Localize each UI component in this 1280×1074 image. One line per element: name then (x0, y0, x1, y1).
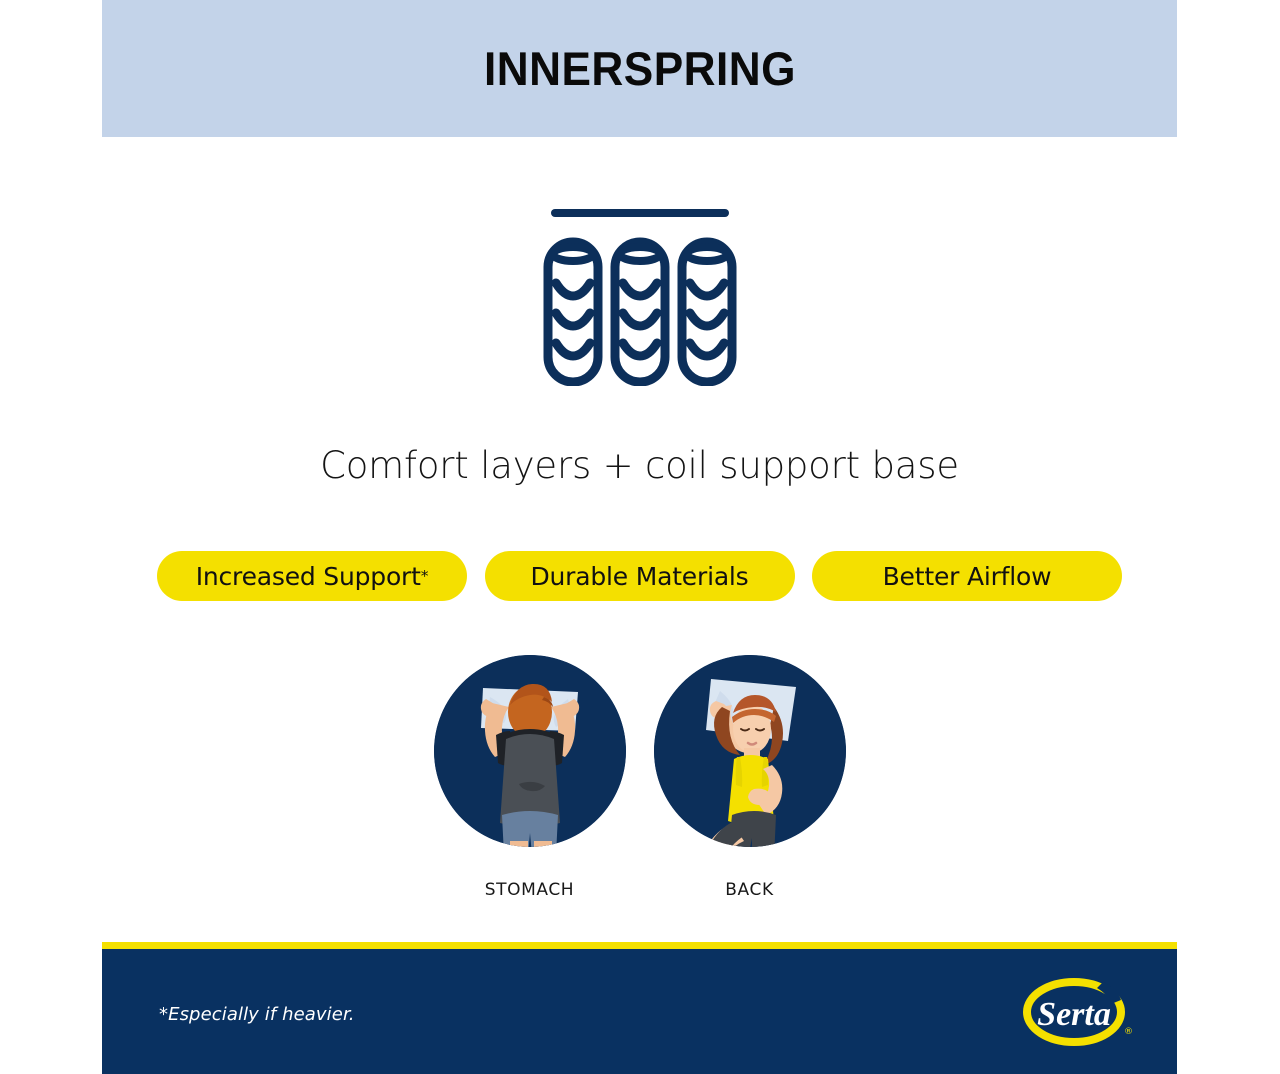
coil-icon-container (102, 196, 1177, 386)
coil-1 (548, 242, 598, 382)
innerspring-coils-icon (542, 196, 738, 386)
innerspring-info-card: INNERSPRING (102, 0, 1177, 1074)
subtitle: Comfort layers + coil support base (102, 444, 1177, 488)
coil-3 (682, 242, 732, 382)
back-sleeper-illustration (654, 655, 846, 847)
feature-pill-increased-support[interactable]: Increased Support* (157, 551, 467, 601)
registered-trademark-mark: ® (1124, 1027, 1133, 1037)
feature-pill-durable-materials[interactable]: Durable Materials (485, 551, 795, 601)
sleep-position-stomach: STOMACH (434, 655, 626, 900)
pill-label: Durable Materials (530, 562, 748, 591)
pill-label: Increased Support (196, 562, 421, 591)
pill-label: Better Airflow (883, 562, 1052, 591)
coil-2 (615, 242, 665, 382)
feature-pill-row: Increased Support* Durable Materials Bet… (157, 551, 1122, 601)
coil-top-bar (551, 209, 729, 217)
back-sleeper-circle (654, 655, 846, 847)
feature-pill-better-airflow[interactable]: Better Airflow (812, 551, 1122, 601)
sleep-position-label-back: BACK (725, 880, 773, 900)
footnote-text: *Especially if heavier. (159, 1004, 355, 1025)
sleep-position-back: BACK (654, 655, 846, 900)
page-title: INNERSPRING (483, 45, 795, 92)
serta-logo: Serta (1023, 978, 1125, 1046)
sleep-position-label-stomach: STOMACH (485, 880, 574, 900)
stomach-sleeper-circle (434, 655, 626, 847)
footer-bar: *Especially if heavier. Serta ® (102, 949, 1177, 1074)
header-band: INNERSPRING (102, 0, 1177, 137)
footer-accent-stripe (102, 942, 1177, 949)
sleep-positions-row: STOMACH (102, 655, 1177, 900)
stomach-sleeper-illustration (434, 655, 626, 847)
serta-wordmark: Serta (1037, 996, 1111, 1033)
